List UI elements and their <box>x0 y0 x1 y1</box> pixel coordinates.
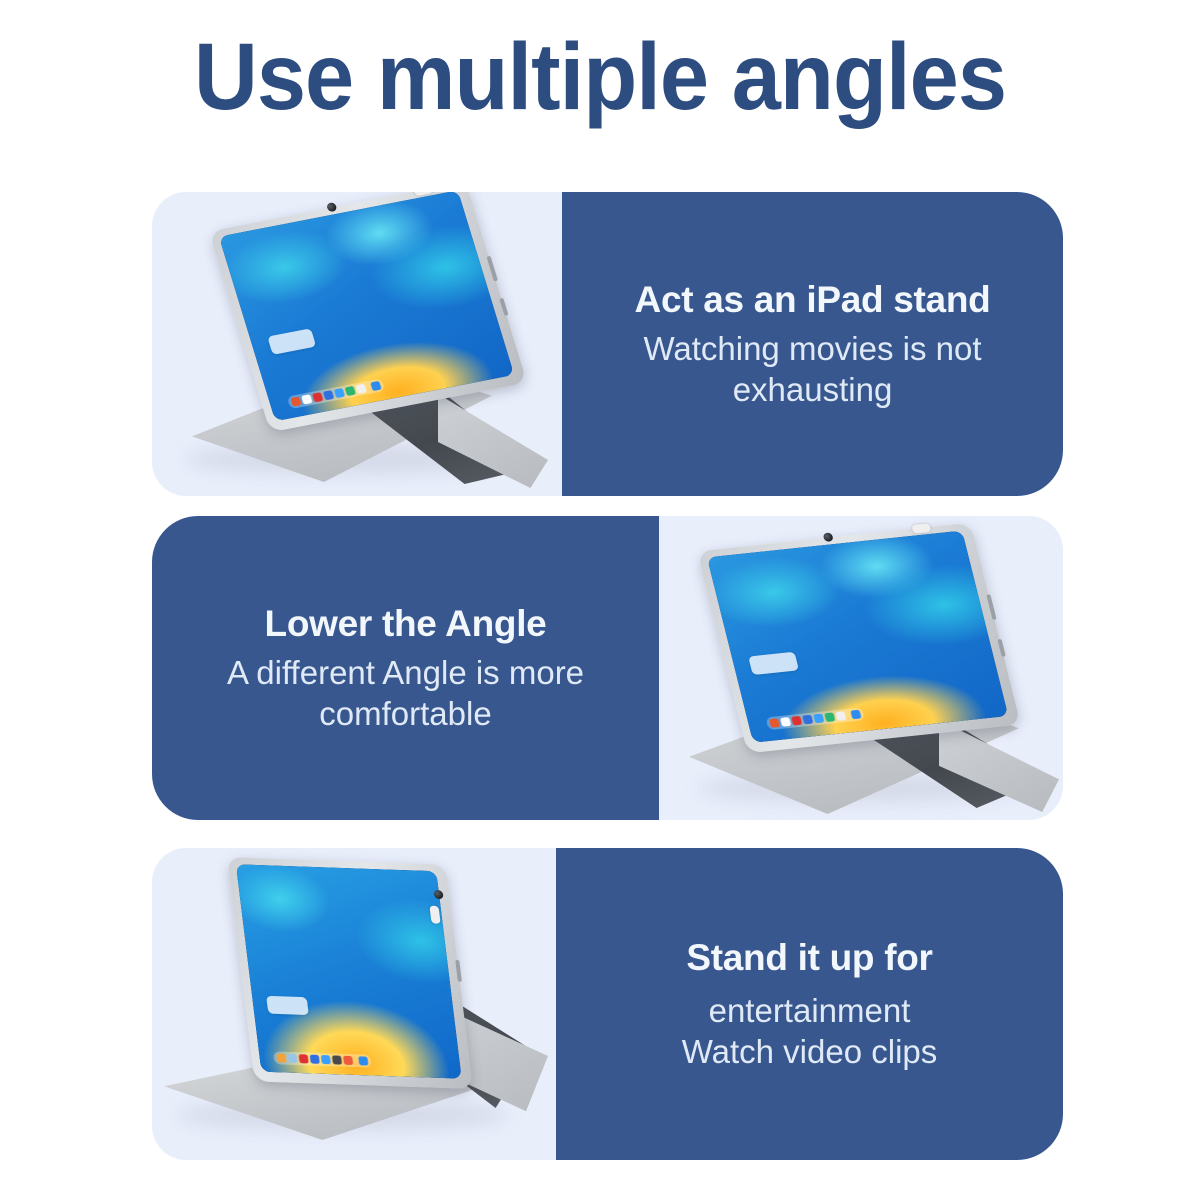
card-subtitle-line-2: exhausting <box>733 369 893 410</box>
dock-app-icon[interactable] <box>310 1055 320 1064</box>
dock-app-icon[interactable] <box>276 1053 286 1062</box>
dock-app-icon[interactable] <box>343 1056 353 1065</box>
feature-card-lower-the-angle: Lower the Angle A different Angle is mor… <box>152 516 1063 820</box>
dock-app-icon[interactable] <box>850 710 861 720</box>
product-photo-panel-3 <box>152 848 556 1160</box>
feature-rows: Act as an iPad stand Watching movies is … <box>0 0 1200 1200</box>
dock-app-icon[interactable] <box>287 1054 297 1063</box>
power-button[interactable] <box>455 960 462 982</box>
feature-text-panel-2: Lower the Angle A different Angle is mor… <box>152 516 659 820</box>
feature-text-panel-1: Act as an iPad stand Watching movies is … <box>562 192 1063 496</box>
tablet-device <box>697 523 1020 754</box>
tablet-scene-upright <box>152 848 556 1160</box>
volume-button[interactable] <box>986 594 996 620</box>
camera-lens-icon <box>823 532 834 542</box>
dock-app-icon[interactable] <box>835 711 846 721</box>
tablet-scene-low-angle <box>659 516 1063 820</box>
card-title: Lower the Angle <box>265 602 547 646</box>
card-subtitle-line-1: Watching movies is not <box>643 328 981 369</box>
dock-app-icon[interactable] <box>370 381 382 391</box>
card-title: Stand it up for <box>686 936 932 980</box>
card-subtitle-line-2: Watch video clips <box>682 1031 938 1072</box>
dock-app-icon[interactable] <box>301 394 313 404</box>
tablet-screen <box>219 192 514 421</box>
tablet-scene-medium-angle <box>152 192 562 496</box>
feature-card-act-as-ipad-stand: Act as an iPad stand Watching movies is … <box>152 192 1063 496</box>
product-photo-panel-2 <box>659 516 1063 820</box>
dock-app-icon[interactable] <box>321 1055 331 1064</box>
dock-app-icon[interactable] <box>355 384 367 394</box>
volume-button[interactable] <box>486 256 498 282</box>
tablet-device <box>227 857 473 1089</box>
dock-app-icon[interactable] <box>312 392 324 402</box>
dock-app-icon[interactable] <box>824 712 835 722</box>
dock-app-icon[interactable] <box>791 716 802 726</box>
card-subtitle-line-1: entertainment <box>709 990 911 1031</box>
dock-app-icon[interactable] <box>802 715 813 725</box>
camera-lens-icon <box>433 890 443 899</box>
camera-bump <box>911 523 931 534</box>
weather-widget <box>266 996 309 1015</box>
camera-lens-icon <box>326 202 338 212</box>
feature-card-stand-it-up: Stand it up for entertainment Watch vide… <box>152 848 1063 1160</box>
dock-app-icon[interactable] <box>323 390 335 400</box>
dock-app-icon[interactable] <box>290 396 302 406</box>
tablet-screen <box>236 864 462 1078</box>
dock-app-icon[interactable] <box>769 718 780 728</box>
power-button[interactable] <box>997 639 1005 657</box>
tablet-screen <box>707 531 1008 743</box>
dock-app-icon[interactable] <box>358 1056 368 1065</box>
dock-app-icon[interactable] <box>299 1054 309 1063</box>
product-photo-panel-1 <box>152 192 562 496</box>
dock-app-icon[interactable] <box>334 388 346 398</box>
feature-text-panel-3: Stand it up for entertainment Watch vide… <box>556 848 1063 1160</box>
screen-wallpaper <box>236 864 462 1078</box>
power-button[interactable] <box>499 298 508 316</box>
dock-app-icon[interactable] <box>332 1055 342 1064</box>
card-subtitle-line-1: A different Angle is more <box>227 652 584 693</box>
dock-app-icon[interactable] <box>345 386 357 396</box>
card-subtitle-line-2: comfortable <box>319 693 491 734</box>
dock-app-icon[interactable] <box>813 714 824 724</box>
dock-app-icon[interactable] <box>780 717 791 727</box>
card-title: Act as an iPad stand <box>635 278 991 322</box>
